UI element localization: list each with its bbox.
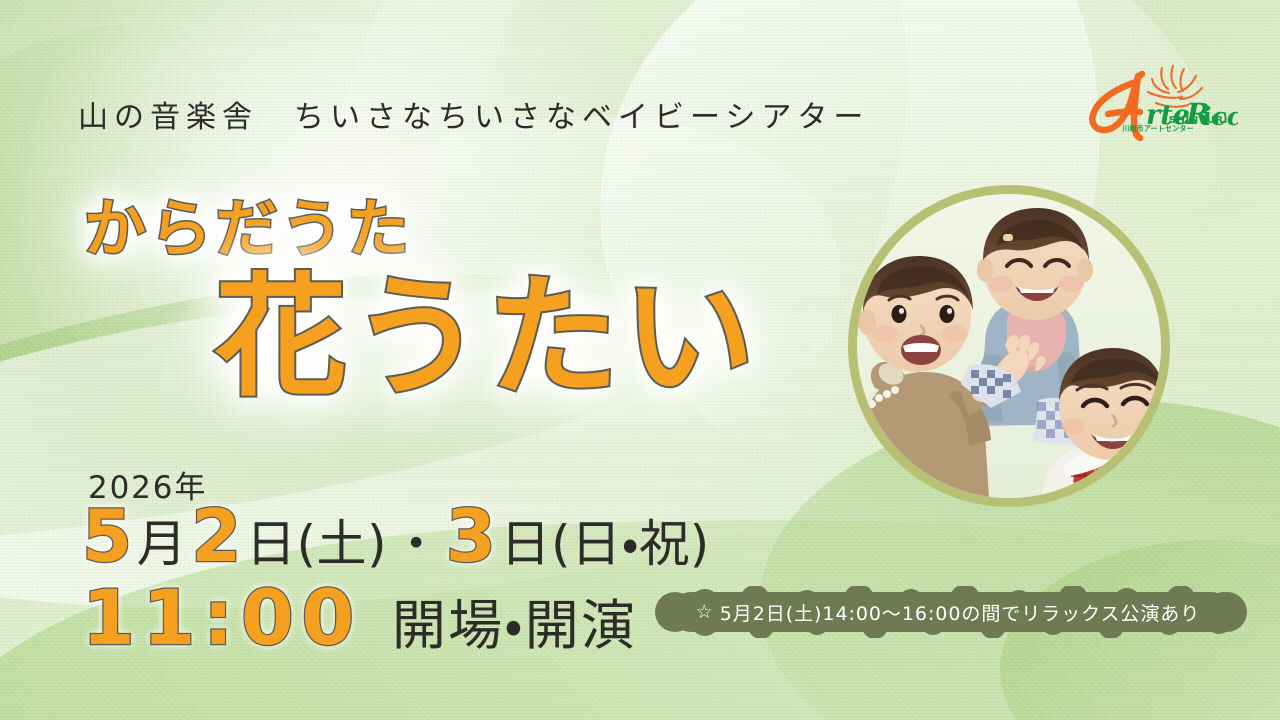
date-day2-number: 3 [446,500,497,572]
date-day1-number: 2 [191,500,242,572]
banner-text-row: ☆ 5月2日(土)14:00〜16:00の間でリラックス公演あり [645,586,1251,638]
arte-ricca-logo: rte R icca SHINYURI 川崎市アートセンター [1078,58,1238,150]
event-time-value: 11:00 [82,580,362,656]
date-day2-unit: 日(日・祝) [500,519,709,569]
babies-photo [857,194,1161,498]
date-month-number: 5 [82,500,133,572]
title-karadauta: からだうた [84,178,413,268]
title-hanautai: 花うたい [215,272,759,404]
date-month-unit: 月 [137,519,188,569]
series-subtitle: 山の音楽舎 ちいさなちいさなベイビーシアター [78,92,869,136]
poster-canvas: 山の音楽舎 ちいさなちいさなベイビーシアター rte R [0,0,1280,720]
date-separator: ・ [391,519,442,569]
logo-fine-print: 川崎市アートセンター [1084,123,1231,134]
event-date-line: 5 月 2 日(土) ・ 3 日(日・祝) [80,500,712,572]
relax-banner-label: 5月2日(土)14:00〜16:00の間でリラックス公演あり [720,599,1200,626]
photo-ring-frame [848,185,1170,507]
date-day1-unit: 日(土) [246,519,387,569]
event-time-line: 11:00 開場・開演 [82,580,637,656]
star-icon: ☆ [696,601,714,623]
event-time-label: 開場・開演 [392,599,637,653]
relax-performance-banner: ☆ 5月2日(土)14:00〜16:00の間でリラックス公演あり [645,586,1251,638]
